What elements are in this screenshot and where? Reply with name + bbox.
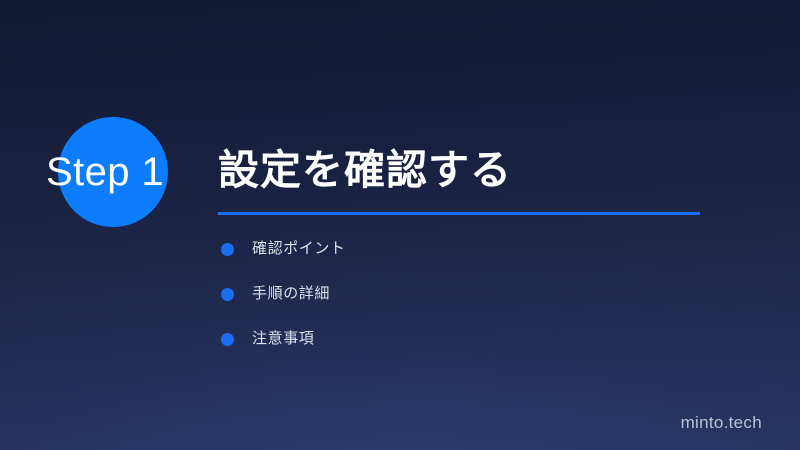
step-label: Step 1 (46, 152, 164, 192)
list-item: 手順の詳細 (220, 283, 346, 305)
slide-title: 設定を確認する (218, 146, 512, 194)
list-item-label: 確認ポイント (252, 239, 346, 259)
list-item: 注意事項 (220, 328, 346, 350)
title-divider (218, 212, 700, 215)
bullet-dot-icon (221, 243, 234, 256)
bullet-dot-icon (221, 333, 234, 346)
watermark-label: minto.tech (681, 413, 762, 433)
list-item-label: 手順の詳細 (252, 284, 330, 304)
list-item: 確認ポイント (220, 238, 346, 260)
bullet-dot-icon (221, 288, 234, 301)
list-item-label: 注意事項 (252, 329, 314, 349)
bullet-list: 確認ポイント 手順の詳細 注意事項 (220, 238, 346, 373)
slide-canvas: Step 1 設定を確認する 確認ポイント 手順の詳細 注意事項 minto.t… (0, 0, 800, 450)
